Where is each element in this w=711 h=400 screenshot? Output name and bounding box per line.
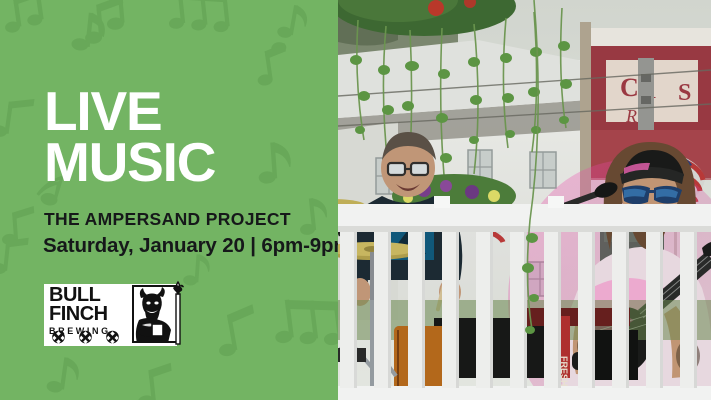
hop-cone-icon — [51, 330, 131, 344]
event-date-time: Saturday, January 20 | 6pm-9pm — [43, 234, 338, 258]
headline-line-2: MUSIC — [44, 137, 334, 188]
band-performance-photo: C R S R — [338, 0, 711, 400]
brewery-logo: BULL FINCH BREWING — [44, 284, 177, 346]
logo-wordmark: BULL FINCH BREWING — [49, 286, 137, 336]
headline-line-1: LIVE — [44, 86, 334, 137]
logo-word-finch: FINCH — [49, 305, 137, 324]
live-music-poster: LIVE MUSIC THE AMPERSAND PROJECT Saturda… — [0, 0, 711, 400]
page-title: LIVE MUSIC — [44, 86, 334, 187]
band-name: THE AMPERSAND PROJECT — [44, 209, 291, 230]
left-content-panel: LIVE MUSIC THE AMPERSAND PROJECT Saturda… — [0, 0, 338, 400]
bullfinch-viking-icon — [132, 280, 194, 348]
